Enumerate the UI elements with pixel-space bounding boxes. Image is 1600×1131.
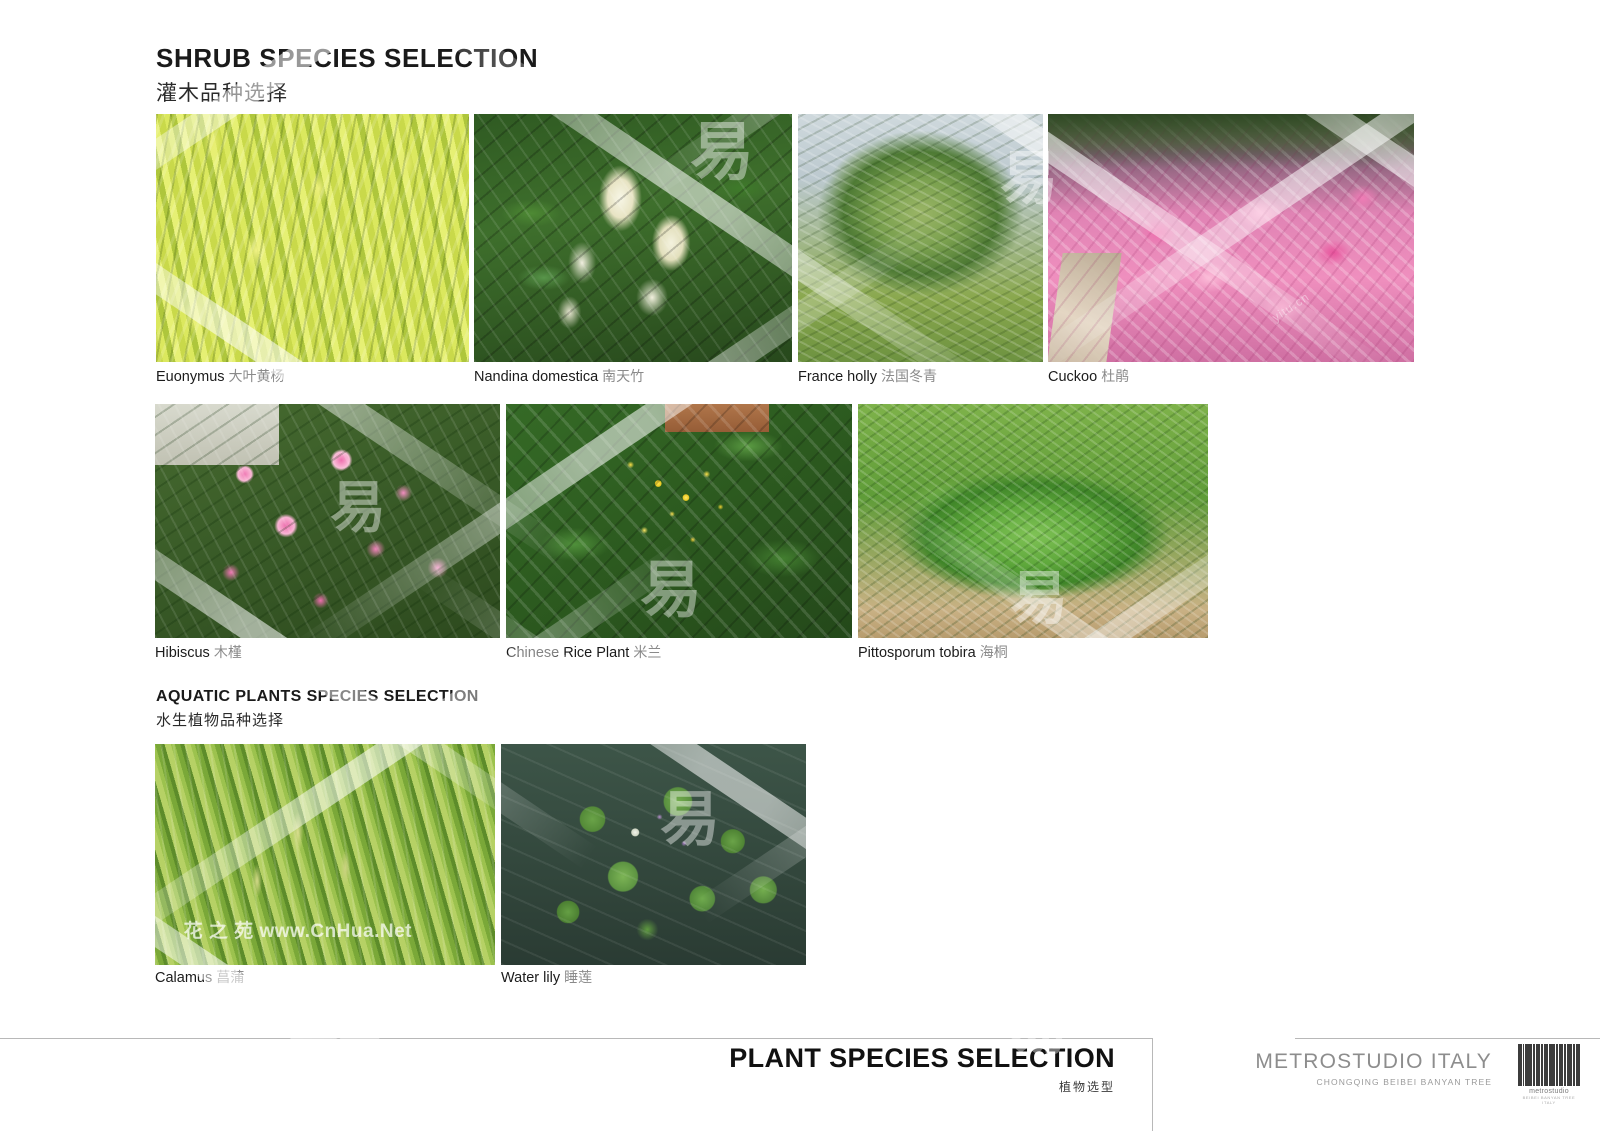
footer-divider bbox=[1152, 1038, 1153, 1131]
caption-cn: 睡莲 bbox=[564, 969, 592, 985]
caption-en: Nandina domestica bbox=[474, 369, 598, 385]
caption-cn: 法国冬青 bbox=[881, 368, 937, 384]
caption-hibiscus: Hibiscus 木槿 bbox=[155, 642, 242, 662]
caption-en: Pittosporum tobira bbox=[858, 645, 976, 661]
caption-euonymus: Euonymus 大叶黄杨 bbox=[156, 366, 285, 386]
photo-euonymus bbox=[156, 114, 469, 362]
section-title-aquatic-en: AQUATIC PLANTS SPECIES SELECTION bbox=[156, 688, 479, 706]
footer-title-en: PLANT SPECIES SELECTION bbox=[729, 1045, 1115, 1072]
caption-en: Water lily bbox=[501, 970, 560, 986]
caption-en: Calamus bbox=[155, 970, 212, 986]
caption-cn: 米兰 bbox=[633, 644, 661, 660]
caption-france-holly: France holly 法国冬青 bbox=[798, 366, 937, 386]
studio-subtitle: CHONGQING BEIBEI BANYAN TREE bbox=[1255, 1077, 1492, 1087]
page-title: SHRUB SPECIES SELECTION 灌木品种选择 bbox=[156, 45, 538, 107]
photo-france-holly bbox=[798, 114, 1043, 362]
presentation-board: SHRUB SPECIES SELECTION 灌木品种选择 Euonymus … bbox=[0, 0, 1600, 1131]
caption-cn: 木槿 bbox=[214, 644, 242, 660]
caption-cuckoo: Cuckoo 杜鹃 bbox=[1048, 366, 1129, 386]
footer-title: PLANT SPECIES SELECTION 植物选型 bbox=[729, 1045, 1115, 1095]
caption-calamus: Calamus 菖蒲 bbox=[155, 967, 244, 987]
caption-en: Hibiscus bbox=[155, 645, 210, 661]
caption-en: France holly bbox=[798, 369, 877, 385]
photo-calamus: 花 之 苑 www.CnHua.Net bbox=[155, 744, 495, 965]
barcode-bars bbox=[1518, 1044, 1580, 1086]
caption-cn: 南天竹 bbox=[602, 368, 644, 384]
caption-cn: 杜鹃 bbox=[1101, 368, 1129, 384]
section-title-aquatic-cn: 水生植物品种选择 bbox=[156, 709, 479, 730]
caption-chinese-rice-plant: Chinese Rice Plant 米兰 bbox=[506, 642, 661, 662]
caption-en: Chinese Rice Plant bbox=[506, 645, 629, 661]
studio-name: METROSTUDIO ITALY bbox=[1255, 1050, 1492, 1074]
caption-pittosporum-tobira: Pittosporum tobira 海桐 bbox=[858, 642, 1008, 662]
caption-cn: 菖蒲 bbox=[216, 969, 244, 985]
photo-nandina-domestica bbox=[474, 114, 792, 362]
footer-title-cn: 植物选型 bbox=[729, 1078, 1115, 1095]
photo-chinese-rice-plant bbox=[506, 404, 852, 638]
logo-caption: metrostudio bbox=[1518, 1088, 1580, 1095]
caption-water-lily: Water lily 睡莲 bbox=[501, 967, 592, 987]
logo-caption-sub: BEIBEI BANYAN TREE ITALY bbox=[1518, 1095, 1580, 1105]
studio-logo-text: METROSTUDIO ITALY CHONGQING BEIBEI BANYA… bbox=[1255, 1050, 1492, 1087]
page-title-cn: 灌木品种选择 bbox=[156, 77, 538, 107]
caption-en: Cuckoo bbox=[1048, 369, 1097, 385]
photo-cuckoo bbox=[1048, 114, 1414, 362]
caption-en: Euonymus bbox=[156, 369, 225, 385]
caption-cn: 海桐 bbox=[980, 644, 1008, 660]
section-title-aquatic: AQUATIC PLANTS SPECIES SELECTION 水生植物品种选… bbox=[156, 688, 479, 730]
caption-cn: 大叶黄杨 bbox=[229, 368, 285, 384]
photo-pittosporum-tobira bbox=[858, 404, 1208, 638]
metrostudio-barcode-logo: metrostudio BEIBEI BANYAN TREE ITALY bbox=[1518, 1044, 1580, 1100]
image-watermark-cnhua: 花 之 苑 www.CnHua.Net bbox=[184, 916, 412, 943]
caption-nandina-domestica: Nandina domestica 南天竹 bbox=[474, 366, 644, 386]
footer-rule-right bbox=[1295, 1038, 1600, 1039]
photo-hibiscus bbox=[155, 404, 500, 638]
footer-rule-left bbox=[0, 1038, 1152, 1039]
page-title-en: SHRUB SPECIES SELECTION bbox=[156, 45, 538, 72]
photo-water-lily bbox=[501, 744, 806, 965]
